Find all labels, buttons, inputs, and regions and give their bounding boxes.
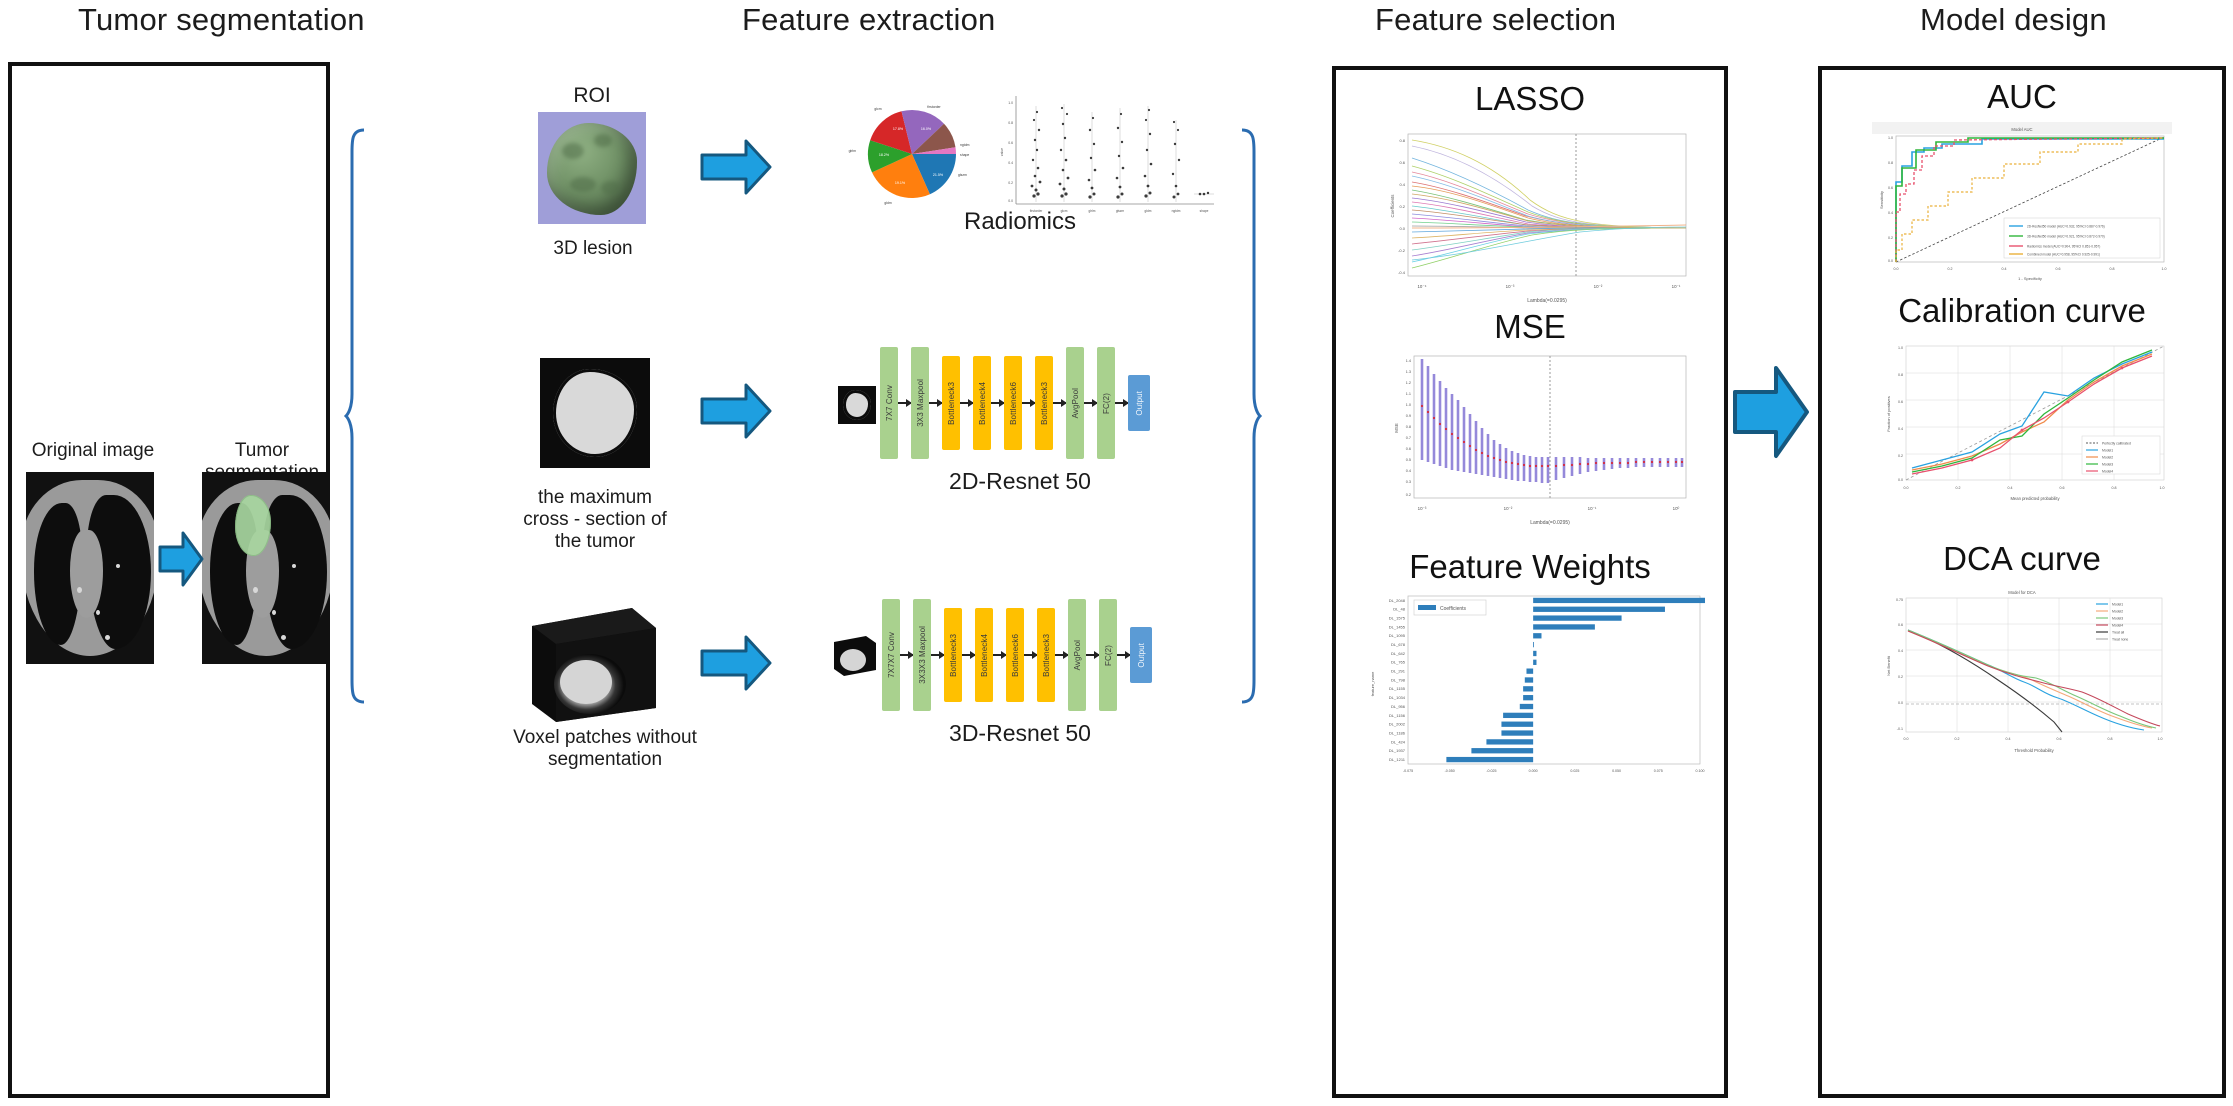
svg-text:10⁻⁴: 10⁻⁴	[1417, 284, 1426, 289]
feature-weight-xtick: 0.000	[1529, 769, 1538, 773]
svg-text:0.6: 0.6	[1898, 623, 1903, 627]
feature-weight-bar	[1533, 607, 1665, 612]
net-block-fc-2: FC(2)	[1099, 599, 1117, 711]
svg-text:0.0: 0.0	[1894, 267, 1899, 271]
feature-weight-bar	[1486, 739, 1533, 744]
feature-weight-label: DL_956	[1391, 704, 1406, 709]
svg-text:0.2: 0.2	[1406, 493, 1411, 497]
feature-weight-bar	[1533, 598, 1705, 603]
svg-text:Combined model (AUC=0.958, 95%: Combined model (AUC=0.958, 95%CI 0.925-0…	[2027, 253, 2100, 257]
svg-text:ngtdm: ngtdm	[960, 143, 970, 147]
arrow-voxel-to-resnet3d	[700, 634, 772, 692]
feature-weight-xtick: 0.025	[1570, 769, 1579, 773]
svg-text:0.4: 0.4	[1406, 469, 1411, 473]
net-block-7x7-conv: 7X7 Conv	[880, 347, 898, 459]
net-flow-arrow	[1055, 654, 1068, 656]
svg-text:Fraction of positives: Fraction of positives	[1886, 396, 1891, 432]
chart-model-auc: Model AUC 1.00.80.6 0.40.20.0 0.00.20.4 …	[1872, 122, 2172, 284]
net-block-label: FC(2)	[1102, 393, 1111, 414]
chart-calibration: 1.00.80.6 0.40.20.0 0.00.20.4 0.60.81.0 …	[1872, 340, 2172, 508]
title-lasso: LASSO	[1332, 80, 1728, 118]
net-block-bottleneck4: Bottleneck4	[975, 608, 993, 702]
svg-text:0.0: 0.0	[1904, 486, 1909, 490]
chart-radiomics-strip: 1.00.8 0.60.4 0.20.0 firstorderglcm glrl…	[990, 90, 1218, 224]
net-block-3x3x3-maxpool: 3X3X3 Maxpool	[913, 599, 931, 711]
svg-text:shape: shape	[1200, 209, 1209, 213]
feature-weight-label: DL_1034	[1389, 695, 1406, 700]
title-auc: AUC	[1818, 78, 2226, 116]
svg-text:0.4: 0.4	[1399, 182, 1405, 187]
feature-weight-bar	[1533, 624, 1595, 629]
label-roi: ROI	[538, 84, 646, 108]
net-flow-arrow	[898, 402, 911, 404]
feature-weight-label: DL_1156	[1389, 713, 1406, 718]
column-header-tumor-segmentation: Tumor segmentation	[78, 2, 365, 38]
svg-text:Model3: Model3	[2112, 616, 2123, 620]
feature-weight-label: DL_1186	[1389, 730, 1406, 735]
net-block-bottleneck3: Bottleneck3	[942, 356, 960, 450]
svg-text:Mean predicted probability: Mean predicted probability	[2010, 496, 2060, 501]
svg-text:0.7: 0.7	[1406, 436, 1411, 440]
svg-text:1.3: 1.3	[1406, 370, 1411, 374]
svg-text:1.4: 1.4	[1406, 359, 1411, 363]
net-block-bottleneck4: Bottleneck4	[973, 356, 991, 450]
svg-text:0.2: 0.2	[1948, 267, 1953, 271]
feature-weight-xtick: 0.050	[1612, 769, 1621, 773]
feature-weight-bar	[1471, 748, 1533, 753]
chart-dca: Model for DCA 0.750.60.4 0.20.0-0.1 0.00…	[1872, 586, 2172, 768]
svg-text:10⁻¹: 10⁻¹	[1588, 506, 1597, 511]
svg-text:0.5: 0.5	[1406, 458, 1411, 462]
ct-original-image	[26, 472, 154, 664]
svg-text:0.2: 0.2	[1898, 675, 1903, 679]
svg-text:0.2: 0.2	[1956, 486, 1961, 490]
net-block-output: Output	[1128, 375, 1150, 431]
svg-text:gldm: gldm	[1145, 209, 1152, 213]
svg-text:0.3: 0.3	[1406, 480, 1411, 484]
net-flow-arrow	[931, 654, 944, 656]
svg-text:glrlm: glrlm	[849, 149, 857, 153]
svg-text:0.6: 0.6	[1406, 447, 1411, 451]
svg-text:0.8: 0.8	[1898, 373, 1903, 377]
svg-text:1.0: 1.0	[1898, 346, 1903, 350]
net-block-avgpool: AvgPool	[1068, 599, 1086, 711]
svg-text:glszm: glszm	[958, 173, 967, 177]
feature-weight-label: DL_291	[1391, 669, 1406, 674]
svg-text:Perfectly calibrated: Perfectly calibrated	[2102, 441, 2131, 445]
svg-text:-0.1: -0.1	[1897, 727, 1903, 731]
net-flow-arrow	[991, 402, 1004, 404]
arrow-roi-to-radiomics	[700, 138, 772, 196]
feature-weight-label: DL_2002	[1389, 722, 1406, 727]
feature-weight-bar	[1503, 713, 1533, 718]
feature-weight-label: DL_1455	[1389, 624, 1406, 629]
svg-text:Coefficients: Coefficients	[1440, 606, 1467, 612]
svg-text:Net Benefit: Net Benefit	[1886, 655, 1891, 676]
svg-text:0.0: 0.0	[1888, 259, 1893, 263]
title-mse: MSE	[1332, 308, 1728, 346]
svg-text:0.0: 0.0	[1898, 701, 1903, 705]
svg-text:0.4: 0.4	[1898, 649, 1903, 653]
svg-text:0.2: 0.2	[1955, 737, 1960, 741]
net-flow-arrow	[960, 402, 973, 404]
net-block-fc-2: FC(2)	[1097, 347, 1115, 459]
brace-extraction-inputs	[344, 126, 366, 711]
svg-text:0.4: 0.4	[1888, 211, 1893, 215]
feature-weight-xtick: -0.025	[1486, 769, 1496, 773]
svg-text:0.0: 0.0	[1898, 478, 1903, 482]
feature-weight-xtick: -0.075	[1403, 769, 1413, 773]
arrow-segmentation	[158, 530, 204, 588]
feature-weight-label: DL_798	[1391, 677, 1406, 682]
svg-text:Treat none: Treat none	[2112, 637, 2128, 641]
svg-text:2D-ResNet50 model (AUC=0.932,: 2D-ResNet50 model (AUC=0.932, 95%CI 0.88…	[2027, 225, 2105, 229]
net-block-label: Bottleneck6	[1009, 382, 1018, 425]
thumbnail-resnet3d-input	[832, 634, 878, 678]
svg-text:3D-ResNet50 model (AUC=0.921,: 3D-ResNet50 model (AUC=0.921, 95%CI 0.87…	[2027, 235, 2105, 239]
svg-text:0.2: 0.2	[1898, 454, 1903, 458]
net-block-label: Output	[1137, 643, 1146, 668]
arrow-selection-to-model	[1732, 364, 1810, 460]
chart-radiomics-pie: 21.5%19.1% 18.2%17.8% 16.0% glszm gldm g…	[840, 92, 990, 220]
svg-text:0.8: 0.8	[1406, 425, 1411, 429]
svg-text:shape: shape	[960, 153, 969, 157]
chart-lasso-path: 0.80.6 0.40.2 0.0-0.2 -0.4 Coefficients …	[1380, 128, 1696, 308]
net-flow-arrow	[1053, 402, 1066, 404]
feature-weight-bar	[1520, 704, 1533, 709]
image-3d-lesion	[538, 112, 646, 224]
svg-text:1.0: 1.0	[1008, 101, 1013, 105]
feature-weight-bar	[1523, 695, 1533, 700]
svg-text:10⁻²: 10⁻²	[1504, 506, 1513, 511]
svg-text:0.8: 0.8	[1399, 138, 1405, 143]
net-block-label: Bottleneck3	[1040, 382, 1049, 425]
svg-text:1.0: 1.0	[2162, 267, 2167, 271]
feature-weight-label: DL_1937	[1389, 748, 1406, 753]
svg-text:Treat all: Treat all	[2112, 630, 2124, 634]
caption-resnet3d: 3D-Resnet 50	[900, 720, 1140, 746]
feature-weight-bar	[1533, 615, 1621, 620]
net-flow-arrow	[1084, 402, 1097, 404]
svg-text:0.0: 0.0	[1399, 226, 1405, 231]
feature-weight-label: DL_48	[1393, 607, 1406, 612]
svg-text:Model1: Model1	[2112, 602, 2123, 606]
arrow-slice-to-resnet2d	[700, 382, 772, 440]
svg-text:1.0: 1.0	[2160, 486, 2165, 490]
net-flow-arrow	[1115, 402, 1128, 404]
svg-text:Sensitivity: Sensitivity	[1879, 191, 1884, 209]
svg-text:feature_name: feature_name	[1370, 671, 1375, 696]
net-block-label: Bottleneck3	[1042, 634, 1051, 677]
svg-text:0.8: 0.8	[1008, 121, 1013, 125]
svg-text:glcm: glcm	[874, 107, 881, 111]
svg-text:10⁰: 10⁰	[1673, 506, 1680, 511]
svg-text:17.8%: 17.8%	[893, 127, 904, 131]
feature-weight-label: DL_1575	[1389, 616, 1406, 621]
chart-feature-weights: feature_name DL_2048DL_48DL_1575DL_1455D…	[1352, 592, 1708, 778]
svg-text:1 - Specificity: 1 - Specificity	[2018, 276, 2042, 281]
net-block-bottleneck3: Bottleneck3	[1037, 608, 1055, 702]
svg-text:0.75: 0.75	[1896, 598, 1903, 602]
svg-text:Lambda(=0.0295): Lambda(=0.0295)	[1527, 298, 1567, 304]
svg-text:Model AUC: Model AUC	[2011, 127, 2032, 132]
feature-weight-bar	[1523, 686, 1533, 691]
feature-weight-label: DL_424	[1391, 739, 1406, 744]
svg-text:firstorder: firstorder	[927, 105, 941, 109]
ct-segmented-image	[202, 472, 330, 664]
svg-text:0.2: 0.2	[1888, 236, 1893, 240]
svg-text:Model2: Model2	[2112, 609, 2123, 613]
net-block-avgpool: AvgPool	[1066, 347, 1084, 459]
svg-text:0.8: 0.8	[2112, 486, 2117, 490]
net-block-label: 7X7 Conv	[885, 385, 894, 421]
net-block-label: 3X3X3 Maxpool	[918, 626, 927, 684]
svg-text:Model4: Model4	[2112, 623, 2123, 627]
svg-text:Model for DCA: Model for DCA	[2008, 590, 2036, 595]
svg-text:0.8: 0.8	[1888, 161, 1893, 165]
svg-text:0.4: 0.4	[2006, 737, 2011, 741]
svg-text:18.2%: 18.2%	[879, 153, 890, 157]
svg-text:0.2: 0.2	[1008, 181, 1013, 185]
net-block-label: Bottleneck6	[1011, 634, 1020, 677]
feature-weight-label: DL_1155	[1389, 686, 1406, 691]
net-flow-arrow	[1086, 654, 1099, 656]
net-block-label: FC(2)	[1104, 645, 1113, 666]
net-block-3x3-maxpool: 3X3 Maxpool	[911, 347, 929, 459]
svg-text:MSE: MSE	[1394, 423, 1399, 433]
image-max-cross-section	[540, 358, 650, 468]
svg-text:-0.2: -0.2	[1398, 248, 1406, 253]
svg-text:0.6: 0.6	[1898, 400, 1903, 404]
svg-text:0.4: 0.4	[1008, 161, 1013, 165]
net-block-label: Bottleneck4	[980, 634, 989, 677]
svg-text:10⁻³: 10⁻³	[1506, 284, 1515, 289]
net-flow-arrow	[1024, 654, 1037, 656]
diagram-resnet2d: 7X7 Conv3X3 MaxpoolBottleneck3Bottleneck…	[880, 340, 1150, 466]
svg-text:0.6: 0.6	[2060, 486, 2065, 490]
svg-text:0.0: 0.0	[1904, 737, 1909, 741]
net-block-label: Output	[1135, 391, 1144, 416]
title-dca-curve: DCA curve	[1818, 540, 2226, 578]
svg-text:0.6: 0.6	[1008, 141, 1013, 145]
feature-weight-bar	[1533, 651, 1536, 656]
svg-text:16.0%: 16.0%	[921, 127, 932, 131]
svg-text:Model2: Model2	[2102, 455, 2113, 459]
caption-3d-lesion: 3D lesion	[520, 238, 666, 260]
svg-text:0.2: 0.2	[1399, 204, 1405, 209]
svg-text:0.8: 0.8	[2108, 737, 2113, 741]
svg-text:10⁻²: 10⁻²	[1594, 284, 1603, 289]
net-block-bottleneck3: Bottleneck3	[1035, 356, 1053, 450]
brace-extraction-outputs	[1240, 126, 1262, 711]
svg-text:0.6: 0.6	[1399, 160, 1405, 165]
svg-text:0.6: 0.6	[2057, 737, 2062, 741]
feature-weight-bar	[1533, 642, 1534, 647]
feature-weight-label: DL_765	[1391, 660, 1406, 665]
net-block-label: 7X7X7 Conv	[887, 632, 896, 678]
svg-text:10⁻¹: 10⁻¹	[1672, 284, 1681, 289]
svg-text:1.2: 1.2	[1406, 381, 1411, 385]
svg-text:value: value	[1000, 148, 1004, 156]
chart-mse-cv: 1.41.31.2 1.11.00.9 0.80.70.6 0.50.40.3 …	[1380, 350, 1696, 534]
svg-text:Radiomics model (AUC=0.904, 95: Radiomics model (AUC=0.904, 95%CI 0.851-…	[2027, 245, 2100, 249]
net-flow-arrow	[900, 654, 913, 656]
svg-text:Lambda(=0.0295): Lambda(=0.0295)	[1530, 520, 1570, 526]
net-block-output: Output	[1130, 627, 1152, 683]
column-header-feature-extraction: Feature extraction	[742, 2, 995, 38]
svg-text:1.1: 1.1	[1406, 392, 1411, 396]
svg-text:ngtdm: ngtdm	[1172, 209, 1181, 213]
feature-weight-label: DL_642	[1391, 651, 1406, 656]
svg-text:10⁻³: 10⁻³	[1418, 506, 1427, 511]
net-flow-arrow	[993, 654, 1006, 656]
feature-weight-bar	[1533, 660, 1536, 665]
caption-voxel-patch: Voxel patches without segmentation	[500, 727, 710, 771]
svg-text:0.9: 0.9	[1406, 414, 1411, 418]
net-block-label: Bottleneck3	[949, 634, 958, 677]
svg-text:Threshold Probability: Threshold Probability	[2014, 748, 2054, 753]
feature-weight-label: DL_678	[1391, 642, 1406, 647]
svg-text:Model4: Model4	[2102, 469, 2113, 473]
feature-weight-xtick: 0.075	[1654, 769, 1663, 773]
net-block-label: AvgPool	[1073, 640, 1082, 670]
svg-text:21.5%: 21.5%	[933, 173, 944, 177]
svg-text:19.1%: 19.1%	[895, 181, 906, 185]
feature-weight-bar	[1525, 677, 1533, 682]
feature-weight-label: DL_2048	[1389, 598, 1406, 603]
column-header-model-design: Model design	[1920, 2, 2107, 38]
title-feature-weights: Feature Weights	[1332, 548, 1728, 586]
diagram-resnet3d: 7X7X7 Conv3X3X3 MaxpoolBottleneck3Bottle…	[882, 592, 1152, 718]
svg-text:0.4: 0.4	[1898, 427, 1903, 431]
caption-max-cross-section: the maximum cross - section of the tumor	[500, 487, 690, 553]
svg-text:1.0: 1.0	[1406, 403, 1411, 407]
feature-weight-bar	[1501, 722, 1533, 727]
net-flow-arrow	[929, 402, 942, 404]
image-voxel-patch	[528, 604, 660, 726]
net-block-label: Bottleneck3	[947, 382, 956, 425]
svg-text:0.0: 0.0	[1008, 199, 1013, 203]
svg-text:0.4: 0.4	[2002, 267, 2007, 271]
svg-text:gldm: gldm	[884, 201, 892, 205]
caption-radiomics: Radiomics	[900, 208, 1140, 236]
title-calibration-curve: Calibration curve	[1818, 292, 2226, 330]
svg-text:Coefficients: Coefficients	[1390, 194, 1395, 218]
net-block-7x7x7-conv: 7X7X7 Conv	[882, 599, 900, 711]
net-block-label: Bottleneck4	[978, 382, 987, 425]
svg-text:Model3: Model3	[2102, 462, 2113, 466]
feature-weight-label: DL_1095	[1389, 633, 1406, 638]
net-block-bottleneck6: Bottleneck6	[1006, 608, 1024, 702]
net-flow-arrow	[1117, 654, 1130, 656]
svg-text:1.0: 1.0	[2158, 737, 2163, 741]
feature-weight-xtick: 0.100	[1696, 769, 1705, 773]
net-block-label: 3X3 Maxpool	[916, 379, 925, 427]
feature-weight-bar	[1501, 730, 1533, 735]
svg-text:0.4: 0.4	[2008, 486, 2013, 490]
feature-weight-bar	[1446, 757, 1533, 762]
caption-resnet2d: 2D-Resnet 50	[900, 468, 1140, 494]
svg-text:1.0: 1.0	[1888, 136, 1893, 140]
net-block-bottleneck3: Bottleneck3	[944, 608, 962, 702]
svg-text:0.6: 0.6	[2056, 267, 2061, 271]
svg-text:0.6: 0.6	[1888, 186, 1893, 190]
feature-weight-bar	[1533, 633, 1541, 638]
feature-weight-xtick: -0.050	[1445, 769, 1455, 773]
svg-text:-0.4: -0.4	[1398, 270, 1406, 275]
column-header-feature-selection: Feature selection	[1375, 2, 1616, 38]
net-flow-arrow	[1022, 402, 1035, 404]
net-block-label: AvgPool	[1071, 388, 1080, 418]
thumbnail-resnet2d-input	[838, 386, 876, 424]
feature-weight-label: DL_1211	[1389, 757, 1406, 762]
svg-text:Model1: Model1	[2102, 448, 2113, 452]
net-block-bottleneck6: Bottleneck6	[1004, 356, 1022, 450]
feature-weight-bar	[1526, 669, 1533, 674]
net-flow-arrow	[962, 654, 975, 656]
svg-text:0.8: 0.8	[2110, 267, 2115, 271]
label-original-image: Original image	[18, 440, 168, 462]
